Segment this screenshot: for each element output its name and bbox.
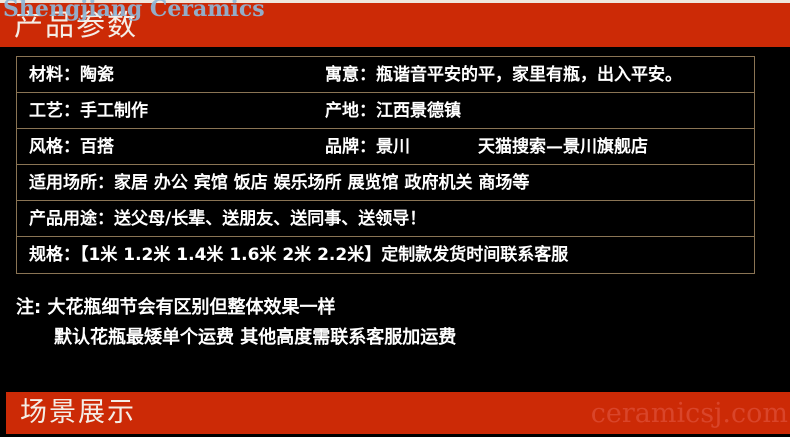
- spec-value: 百搭: [80, 137, 114, 157]
- note-line-2: 默认花瓶最矮单个运费 其他高度需联系客服加运费: [16, 323, 756, 353]
- spec-label: 工艺：: [29, 101, 80, 121]
- spec-cell-craft: 工艺：手工制作: [17, 94, 317, 128]
- spec-label: 风格：: [29, 137, 80, 157]
- spec-value: 瓶谐音平安的平，家里有瓶，出入平安。: [376, 65, 682, 85]
- spec-value: 景川: [376, 137, 410, 157]
- brand-watermark: Shengjiang Ceramics: [3, 0, 265, 22]
- spec-cell-origin: 产地：江西景德镇: [317, 94, 754, 128]
- spec-label: 寓意：: [325, 65, 376, 85]
- spec-value: 手工制作: [80, 101, 148, 121]
- note-line-1: 注: 大花瓶细节会有区别但整体效果一样: [16, 293, 756, 323]
- spec-cell-material: 材料：陶瓷: [17, 58, 317, 92]
- table-row: 工艺：手工制作 产地：江西景德镇: [17, 93, 754, 129]
- spec-cell-brand: 品牌：景川天猫搜索—景川旗舰店: [317, 130, 754, 164]
- spec-cell-style: 风格：百搭: [17, 130, 317, 164]
- spec-value: 【1米 1.2米 1.4米 1.6米 2米 2.2米】定制款发货时间联系客服: [80, 245, 568, 265]
- footer-title: 场景展示: [20, 392, 136, 434]
- spec-cell-venues: 适用场所：家居 办公 宾馆 饭店 娱乐场所 展览馆 政府机关 商场等: [17, 166, 754, 200]
- product-parameters-page: 产品参数 Shengjiang Ceramics 材料：陶瓷 寓意：瓶谐音平安的…: [0, 0, 790, 437]
- spec-cell-meaning: 寓意：瓶谐音平安的平，家里有瓶，出入平安。: [317, 58, 754, 92]
- spec-label: 适用场所：: [29, 173, 114, 193]
- note-block: 注: 大花瓶细节会有区别但整体效果一样 默认花瓶最矮单个运费 其他高度需联系客服…: [16, 293, 756, 353]
- spec-value: 送父母/长辈、送朋友、送同事、送领导！: [114, 209, 426, 229]
- spec-cell-usage: 产品用途：送父母/长辈、送朋友、送同事、送领导！: [17, 202, 754, 236]
- table-row: 规格：【1米 1.2米 1.4米 1.6米 2米 2.2米】定制款发货时间联系客…: [17, 237, 754, 273]
- spec-label: 产地：: [325, 101, 376, 121]
- table-row: 材料：陶瓷 寓意：瓶谐音平安的平，家里有瓶，出入平安。: [17, 57, 754, 93]
- spec-value: 江西景德镇: [376, 101, 461, 121]
- table-row: 产品用途：送父母/长辈、送朋友、送同事、送领导！: [17, 201, 754, 237]
- section-footer-banner: 场景展示 ceramicsj.com: [6, 392, 790, 434]
- spec-label: 品牌：: [325, 137, 376, 157]
- spec-value: 陶瓷: [80, 65, 114, 85]
- spec-table: 材料：陶瓷 寓意：瓶谐音平安的平，家里有瓶，出入平安。 工艺：手工制作 产地：江…: [16, 56, 755, 274]
- site-watermark: ceramicsj.com: [591, 394, 788, 434]
- spec-value: 家居 办公 宾馆 饭店 娱乐场所 展览馆 政府机关 商场等: [114, 173, 529, 193]
- spec-label: 材料：: [29, 65, 80, 85]
- table-row: 适用场所：家居 办公 宾馆 饭店 娱乐场所 展览馆 政府机关 商场等: [17, 165, 754, 201]
- table-row: 风格：百搭 品牌：景川天猫搜索—景川旗舰店: [17, 129, 754, 165]
- tmall-search-hint: 天猫搜索—景川旗舰店: [478, 130, 648, 164]
- spec-cell-sizes: 规格：【1米 1.2米 1.4米 1.6米 2米 2.2米】定制款发货时间联系客…: [17, 238, 754, 272]
- spec-label: 规格：: [29, 245, 80, 265]
- spec-label: 产品用途：: [29, 209, 114, 229]
